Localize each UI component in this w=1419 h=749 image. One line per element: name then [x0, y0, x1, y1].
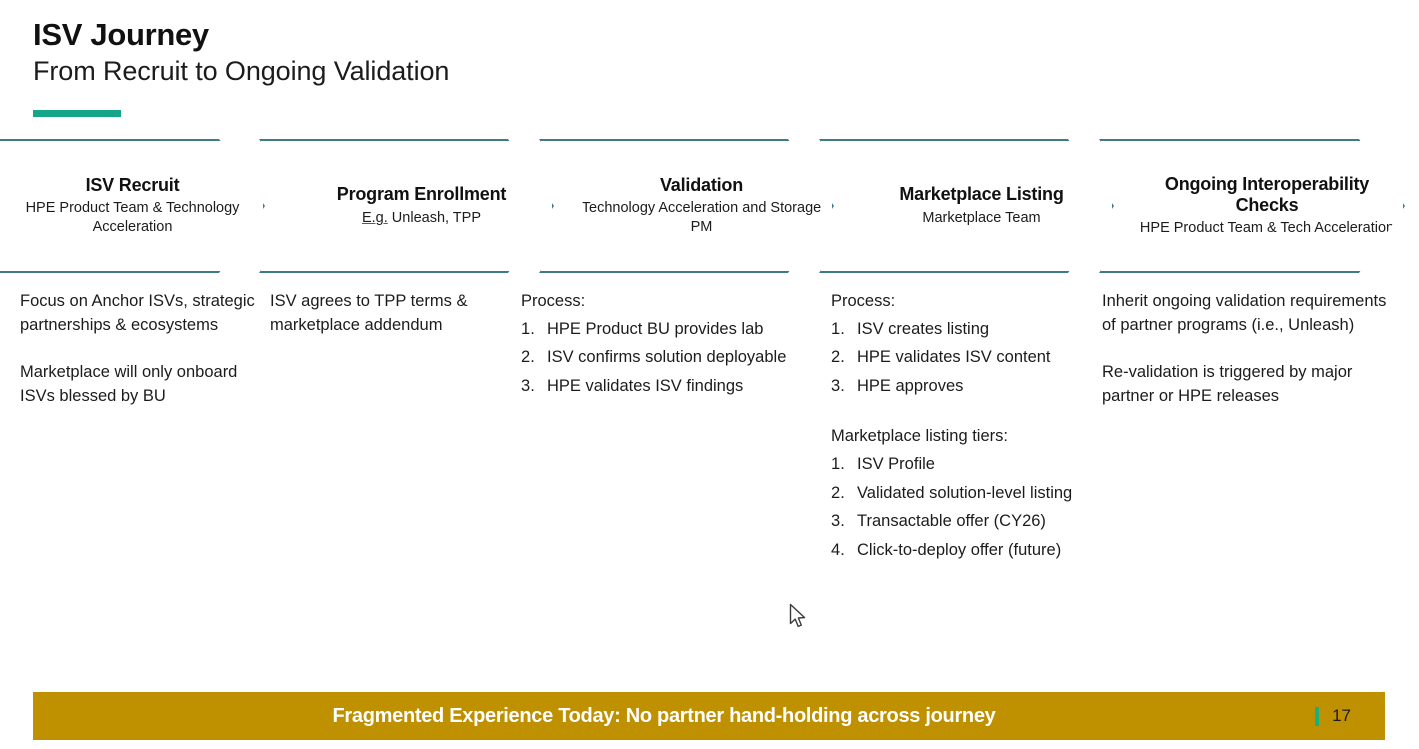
list-item: ISV Profile — [831, 453, 1101, 477]
process-list: HPE Product BU provides lab ISV confirms… — [521, 318, 821, 399]
page-number: 17 — [1332, 706, 1351, 726]
footer-banner-text: Fragmented Experience Today: No partner … — [333, 705, 996, 728]
list-heading-tiers: Marketplace listing tiers: — [831, 425, 1101, 449]
listing-tiers-list: ISV Profile Validated solution-level lis… — [831, 453, 1101, 562]
column-ongoing-checks: Inherit ongoing validation requirements … — [1102, 290, 1392, 408]
page-title: ISV Journey — [33, 18, 933, 53]
list-item: HPE approves — [831, 375, 1101, 399]
list-heading: Process: — [521, 290, 821, 314]
page-subtitle: From Recruit to Ongoing Validation — [33, 56, 933, 87]
chevron-stage-ongoing-interoperability-checks[interactable]: Ongoing Interoperability Checks HPE Prod… — [1099, 139, 1405, 273]
chevron-stage-isv-recruit[interactable]: ISV Recruit HPE Product Team & Technolog… — [0, 139, 265, 273]
title-accent-bar — [33, 110, 121, 117]
list-item: ISV creates listing — [831, 318, 1101, 342]
spacer — [831, 403, 1101, 425]
column-paragraph: Re-validation is triggered by major part… — [1102, 361, 1392, 408]
journey-chevron-band: ISV Recruit HPE Product Team & Technolog… — [0, 139, 1419, 273]
chevron-subtitle-prefix: E.g. — [362, 210, 388, 226]
list-item: HPE Product BU provides lab — [521, 318, 821, 342]
chevron-stage-validation[interactable]: Validation Technology Acceleration and S… — [539, 139, 834, 273]
chevron-stage-marketplace-listing[interactable]: Marketplace Listing Marketplace Team — [819, 139, 1114, 273]
chevron-title: Validation — [577, 175, 826, 196]
chevron-title: ISV Recruit — [8, 175, 257, 196]
chevron-subtitle-rest: Unleash, TPP — [388, 210, 481, 226]
chevron-subtitle: E.g. Unleash, TPP — [297, 209, 546, 228]
column-paragraph: Marketplace will only onboard ISVs bless… — [20, 361, 255, 408]
column-validation: Process: HPE Product BU provides lab ISV… — [521, 290, 821, 403]
chevron-title: Marketplace Listing — [857, 184, 1106, 205]
list-item: Transactable offer (CY26) — [831, 510, 1101, 534]
list-item: HPE validates ISV content — [831, 346, 1101, 370]
list-item: HPE validates ISV findings — [521, 375, 821, 399]
chevron-stage-program-enrollment[interactable]: Program Enrollment E.g. Unleash, TPP — [259, 139, 554, 273]
list-item: Validated solution-level listing — [831, 482, 1101, 506]
column-isv-recruit: Focus on Anchor ISVs, strategic partners… — [20, 290, 255, 408]
column-marketplace-listing: Process: ISV creates listing HPE validat… — [831, 290, 1101, 567]
column-paragraph: Focus on Anchor ISVs, strategic partners… — [20, 290, 255, 337]
chevron-subtitle: Marketplace Team — [857, 209, 1106, 228]
chevron-subtitle: HPE Product Team & Technology Accelerati… — [8, 199, 257, 237]
footer-banner: Fragmented Experience Today: No partner … — [33, 692, 1385, 740]
page-number-group: 17 — [1315, 706, 1351, 726]
stage-detail-columns: Focus on Anchor ISVs, strategic partners… — [0, 290, 1419, 620]
title-block: ISV Journey From Recruit to Ongoing Vali… — [33, 18, 933, 87]
list-item: Click-to-deploy offer (future) — [831, 539, 1101, 563]
column-paragraph: ISV agrees to TPP terms & marketplace ad… — [270, 290, 510, 337]
page-tick-icon — [1315, 707, 1319, 726]
list-item: ISV confirms solution deployable — [521, 346, 821, 370]
chevron-subtitle: HPE Product Team & Tech Acceleration — [1137, 219, 1397, 238]
chevron-title: Program Enrollment — [297, 184, 546, 205]
process-list: ISV creates listing HPE validates ISV co… — [831, 318, 1101, 399]
list-heading: Process: — [831, 290, 1101, 314]
chevron-title: Ongoing Interoperability Checks — [1137, 174, 1397, 216]
chevron-subtitle: Technology Acceleration and Storage PM — [577, 199, 826, 237]
column-paragraph: Inherit ongoing validation requirements … — [1102, 290, 1392, 337]
column-program-enrollment: ISV agrees to TPP terms & marketplace ad… — [270, 290, 510, 337]
